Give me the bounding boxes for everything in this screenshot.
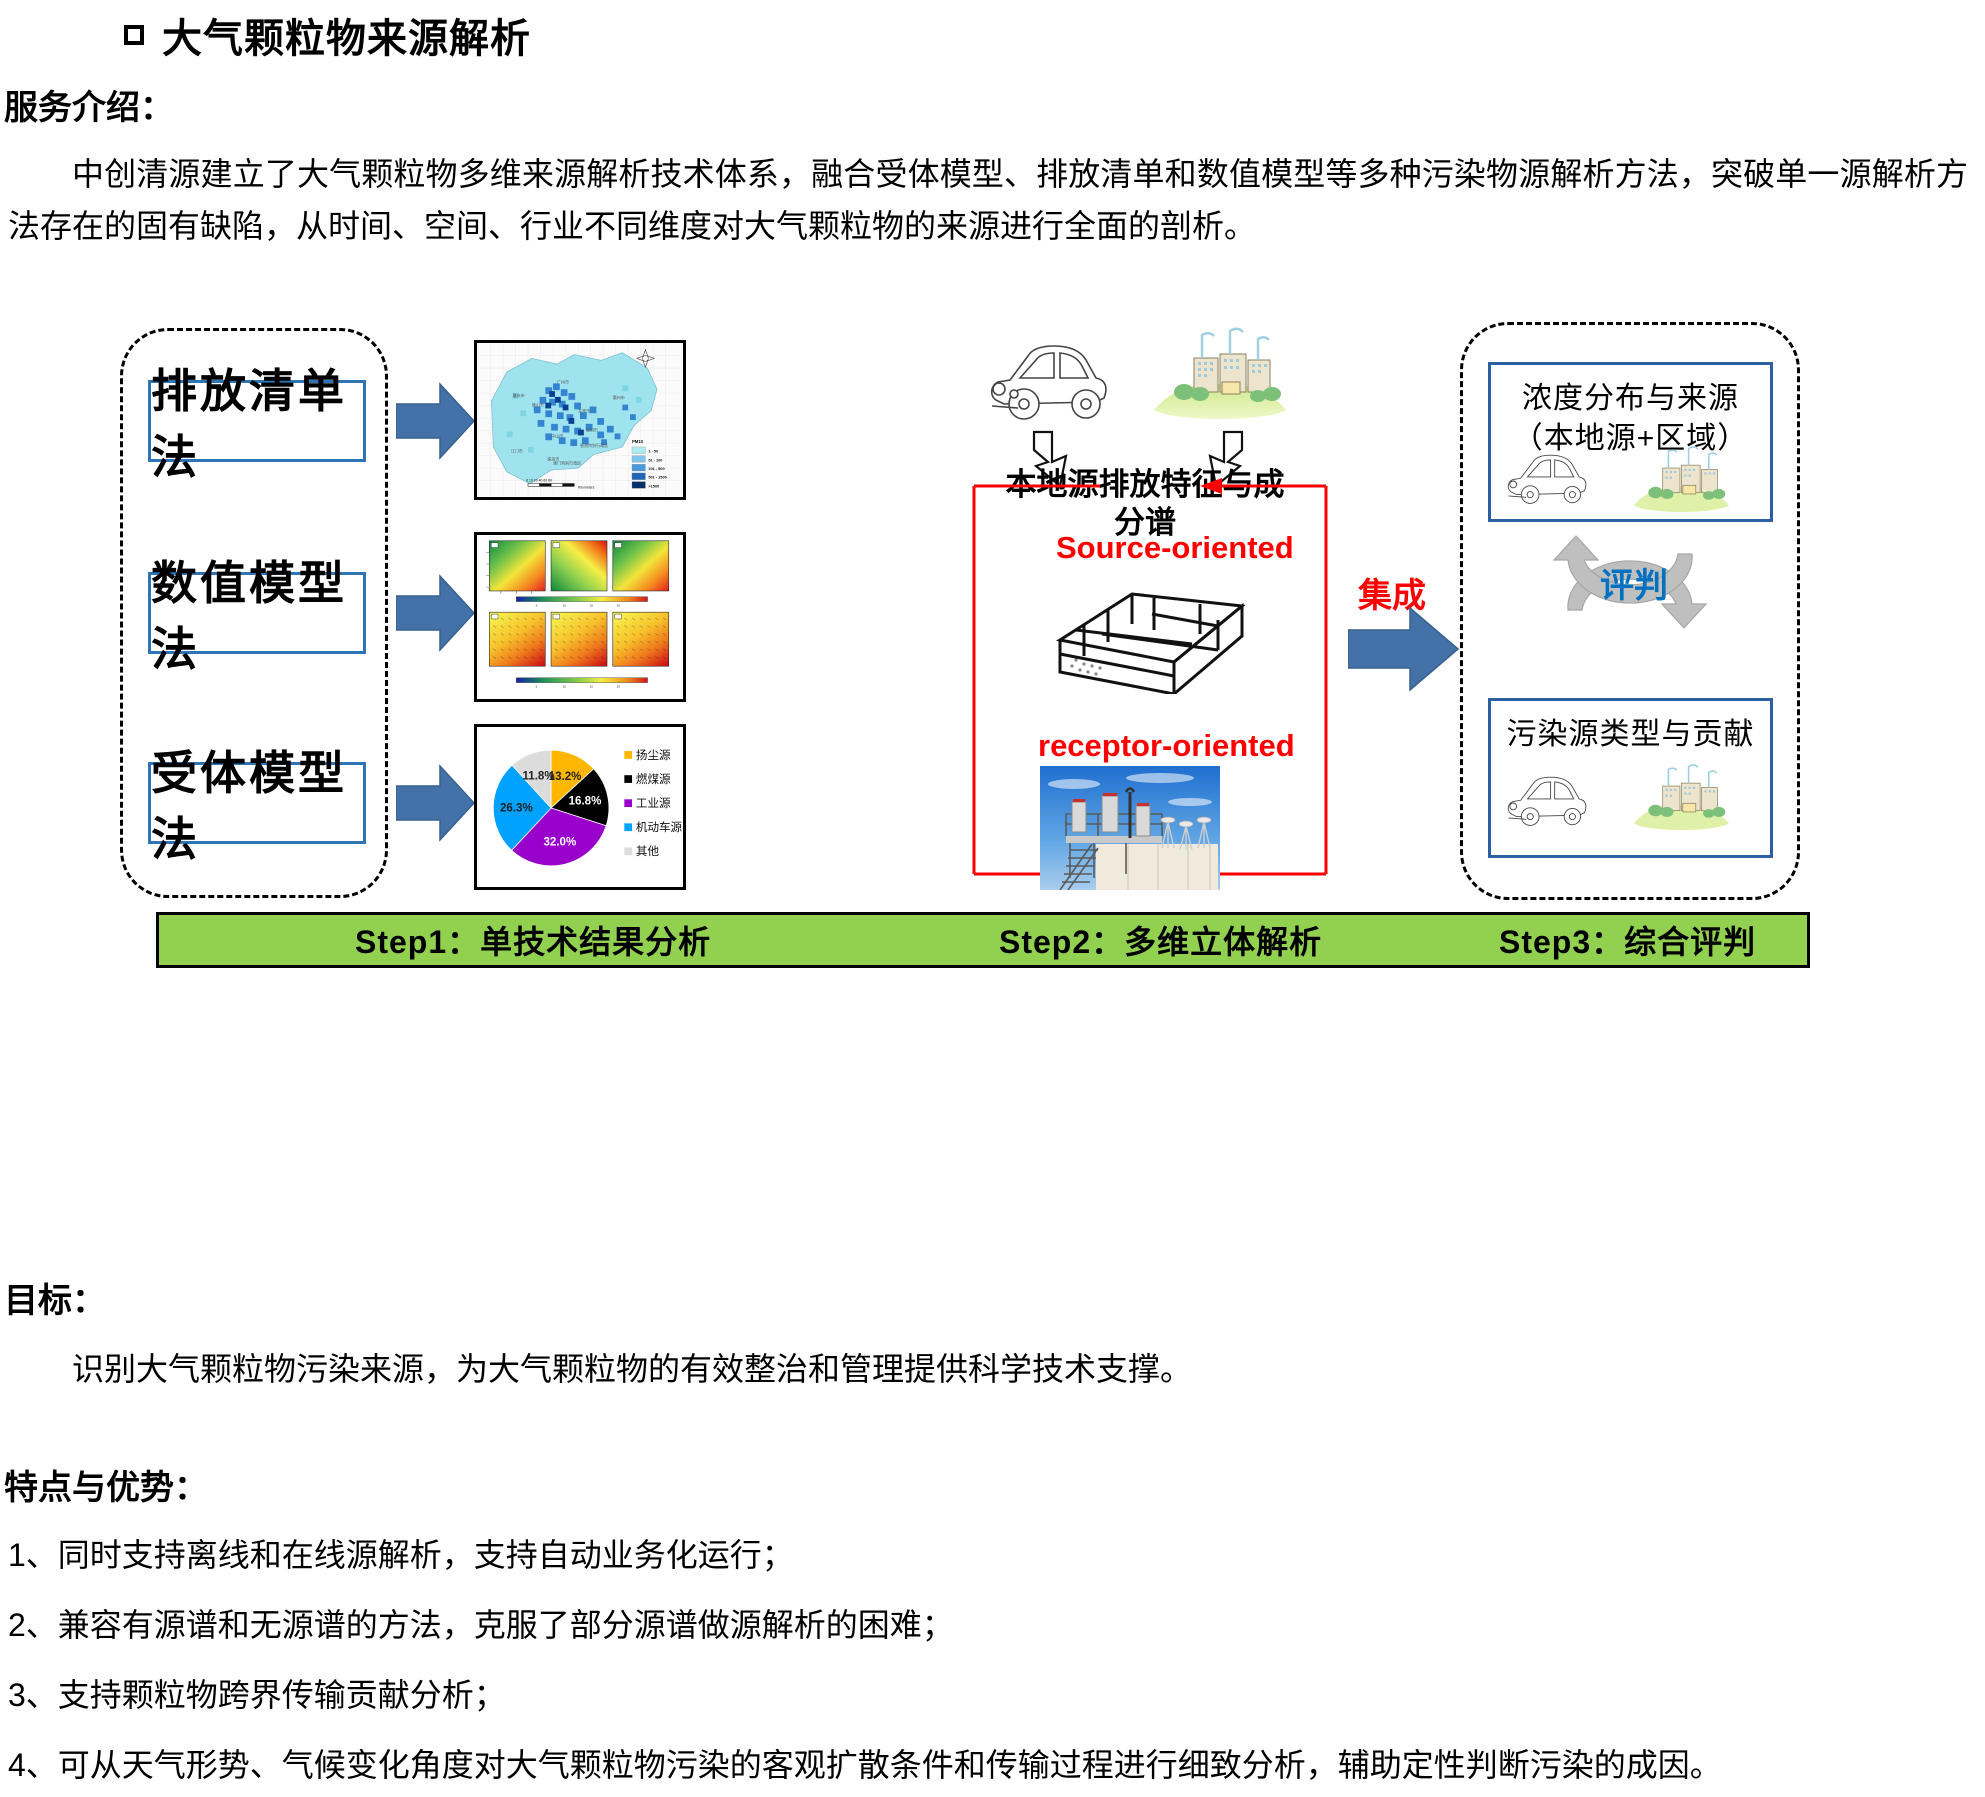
grid-model-icon <box>1042 576 1260 694</box>
service-intro-body: 中创清源建立了大气颗粒物多维来源解析技术体系，融合受体模型、排放清单和数值模型等… <box>8 148 1968 252</box>
evaluation-label: 评判 <box>1600 558 1668 607</box>
factory-icon <box>1150 326 1290 426</box>
service-intro-heading: 服务介绍： <box>4 80 174 129</box>
source-oriented-label: Source-oriented <box>1056 530 1294 566</box>
step-label-3: Step3：综合评判 <box>1499 917 1756 963</box>
step-label-2: Step2：多维立体解析 <box>999 917 1322 963</box>
legend-label: 燃煤源 <box>636 772 671 786</box>
method-box-emission-inventory[interactable]: 排放清单法 <box>148 380 366 462</box>
legend-label: 机动车源 <box>636 820 683 834</box>
legend-swatch <box>624 799 632 807</box>
svg-text:Kilometers: Kilometers <box>578 485 595 489</box>
svg-text:10: 10 <box>563 603 567 607</box>
arrow-emission-to-map <box>396 382 476 460</box>
receptor-oriented-label: receptor-oriented <box>1038 728 1295 764</box>
method-box-numerical-model[interactable]: 数值模型法 <box>148 572 366 654</box>
goal-body: 识别大气颗粒物污染来源，为大气颗粒物的有效整治和管理提供科学技术支撑。 <box>8 1343 1968 1395</box>
thumbnail-numerical-model-panels[interactable]: 5101520 5101520 <box>474 532 686 702</box>
svg-text:20: 20 <box>617 603 621 607</box>
page-title: 大气颗粒物来源解析 <box>124 6 531 64</box>
method-label: 数值模型法 <box>151 547 363 679</box>
thumbnail-emission-inventory-map[interactable]: 广州市肇庆市 佛山市东莞市 惠州市深圳市 中山市江门市 香港特别行政区珠海市 澳… <box>474 340 686 500</box>
svg-text:15: 15 <box>590 603 594 607</box>
feature-item-3: 3、支持颗粒物跨界传输贡献分析； <box>8 1670 506 1716</box>
step-bar: Step1：单技术结果分析 Step2：多维立体解析 Step3：综合评判 <box>156 912 1810 968</box>
page-title-text: 大气颗粒物来源解析 <box>162 6 531 64</box>
svg-text:15: 15 <box>590 684 594 688</box>
feature-item-4: 4、可从天气形势、气候变化角度对大气颗粒物污染的客观扩散条件和传输过程进行细致分… <box>8 1740 1722 1786</box>
feature-item-2: 2、兼容有源谱和无源谱的方法，克服了部分源谱做源解析的困难； <box>8 1600 954 1646</box>
pie-value-label: 16.8% <box>569 795 602 807</box>
result-box-source-type-contribution[interactable]: 污染源类型与贡献 <box>1488 698 1773 858</box>
svg-text:东莞市: 东莞市 <box>578 407 590 413</box>
legend-label: 工业源 <box>636 796 671 810</box>
legend-swatch <box>624 775 632 783</box>
legend-swatch <box>624 823 632 831</box>
svg-text:101 - 500: 101 - 500 <box>648 467 664 471</box>
svg-text:0 10 20 40 60 8: 0 10 20 40 60 80 <box>526 479 552 483</box>
svg-text:PM10: PM10 <box>632 439 644 444</box>
svg-text:20: 20 <box>617 684 621 688</box>
svg-text:香港特别行政区: 香港特别行政区 <box>580 442 608 448</box>
svg-text:广州市: 广州市 <box>557 378 569 384</box>
step-label-1: Step1：单技术结果分析 <box>355 917 711 963</box>
pie-value-label: 26.3% <box>500 803 533 815</box>
result-box-concentration-distribution[interactable]: 浓度分布与来源 （本地源+区域） <box>1488 362 1773 522</box>
arrow-numerical-to-panels <box>396 574 476 652</box>
svg-text:深圳市: 深圳市 <box>586 427 598 433</box>
svg-text:澳门特别行政区: 澳门特别行政区 <box>553 459 581 465</box>
svg-text:501 - 1500: 501 - 1500 <box>648 476 666 480</box>
pie-chart: 13.2%16.8%32.0%26.3%11.8% 扬尘源燃煤源工业源机动车源其… <box>477 727 683 887</box>
method-label: 受体模型法 <box>151 737 363 869</box>
monitoring-station-photo[interactable] <box>1040 766 1220 890</box>
arrow-integration <box>1348 606 1460 692</box>
svg-text:10: 10 <box>563 684 567 688</box>
goal-heading: 目标： <box>4 1273 106 1322</box>
result-box-line1: 浓度分布与来源 <box>1491 379 1770 419</box>
svg-text:51 - 100: 51 - 100 <box>648 458 662 462</box>
svg-text:中山市: 中山市 <box>551 432 563 438</box>
svg-text:>1500: >1500 <box>648 484 659 488</box>
thumbnail-receptor-model-pie[interactable]: 13.2%16.8%32.0%26.3%11.8% 扬尘源燃煤源工业源机动车源其… <box>474 724 686 890</box>
legend-label: 扬尘源 <box>636 748 671 762</box>
svg-text:佛山市: 佛山市 <box>532 402 544 408</box>
method-label: 排放清单法 <box>151 355 363 487</box>
source-apportionment-diagram: 排放清单法 数值模型法 受体模型法 <box>0 300 1985 980</box>
features-heading: 特点与优势： <box>4 1460 208 1509</box>
legend-swatch <box>624 847 632 855</box>
car-icon <box>984 334 1112 426</box>
pie-value-label: 11.8% <box>522 770 554 782</box>
pie-value-label: 32.0% <box>543 836 576 848</box>
method-box-receptor-model[interactable]: 受体模型法 <box>148 762 366 844</box>
svg-text:惠州市: 惠州市 <box>613 394 625 400</box>
svg-text:1 - 50: 1 - 50 <box>648 450 658 454</box>
legend-label: 其他 <box>636 845 660 858</box>
legend-swatch <box>624 751 632 759</box>
feature-item-1: 1、同时支持离线和在线源解析，支持自动业务化运行； <box>8 1530 794 1576</box>
arrow-receptor-to-pie <box>396 764 476 842</box>
svg-text:肇庆市: 肇庆市 <box>513 392 525 398</box>
square-bullet-icon <box>124 25 144 45</box>
svg-text:江门市: 江门市 <box>511 448 523 454</box>
